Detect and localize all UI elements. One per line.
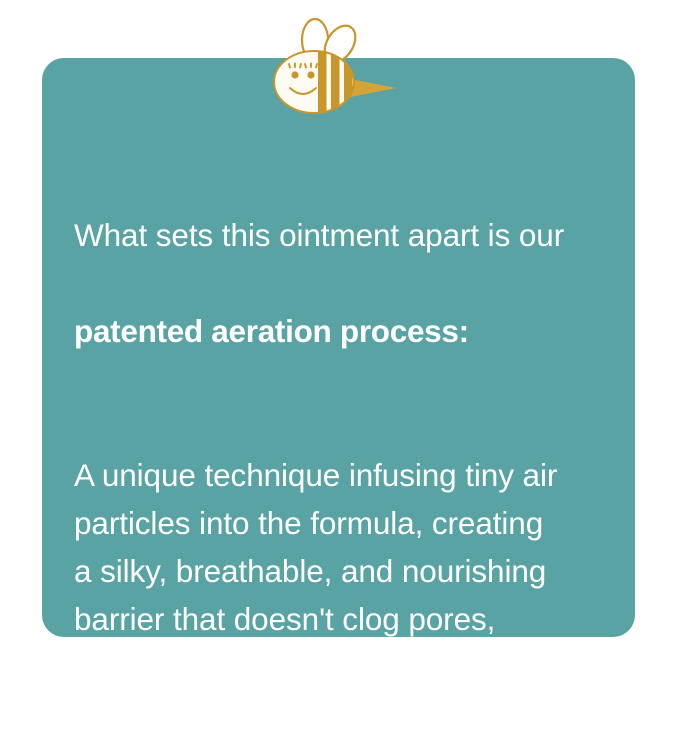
headline: What sets this ointment apart is our pat… bbox=[74, 163, 614, 403]
headline-line-2: patented aeration process: bbox=[74, 307, 614, 355]
body-paragraph: A unique technique infusing tiny air par… bbox=[74, 403, 614, 739]
bee-icon bbox=[262, 10, 412, 120]
bee-body-icon bbox=[274, 51, 354, 113]
card-text-block: What sets this ointment apart is our pat… bbox=[74, 163, 614, 739]
infographic-canvas: What sets this ointment apart is our pat… bbox=[0, 0, 679, 679]
headline-line-1: What sets this ointment apart is our bbox=[74, 211, 614, 259]
